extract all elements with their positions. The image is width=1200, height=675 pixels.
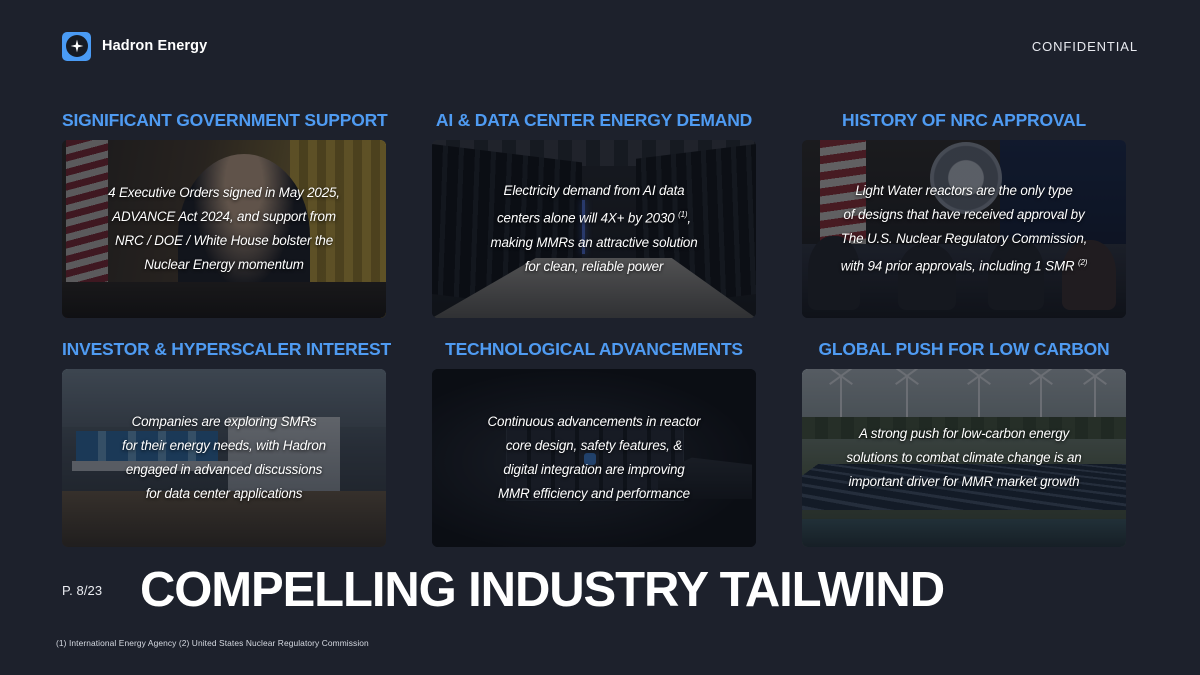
- card-line: MMR efficiency and performance: [498, 482, 690, 506]
- card-line: core design, safety features, &: [506, 434, 682, 458]
- card-line: The U.S. Nuclear Regulatory Commission,: [841, 227, 1087, 251]
- card-media: Companies are exploring SMRs for their e…: [62, 369, 386, 547]
- card-body-text: A strong push for low-carbon energy solu…: [802, 369, 1126, 547]
- card-line: with 94 prior approvals, including 1 SMR…: [841, 251, 1088, 278]
- card-media: 4 Executive Orders signed in May 2025, A…: [62, 140, 386, 318]
- footnote-marker: (1): [678, 210, 687, 219]
- card-media: Electricity demand from AI data centers …: [432, 140, 756, 318]
- card-line: making MMRs an attractive solution: [491, 231, 698, 255]
- card-line: Light Water reactors are the only type: [855, 179, 1072, 203]
- card-technological-advancements[interactable]: TECHNOLOGICAL ADVANCEMENTS Continuous ad…: [432, 339, 756, 547]
- card-title: GLOBAL PUSH FOR LOW CARBON: [802, 339, 1126, 360]
- card-body-text: Continuous advancements in reactor core …: [432, 369, 756, 547]
- card-media: Continuous advancements in reactor core …: [432, 369, 756, 547]
- card-history-of-nrc-approval[interactable]: HISTORY OF NRC APPROVAL Light Water reac…: [802, 110, 1126, 318]
- card-title: HISTORY OF NRC APPROVAL: [802, 110, 1126, 131]
- card-line: engaged in advanced discussions: [126, 458, 322, 482]
- card-title: INVESTOR & HYPERSCALER INTEREST: [62, 339, 386, 360]
- brand-name: Hadron Energy: [102, 38, 207, 54]
- card-line: for their energy needs, with Hadron: [122, 434, 326, 458]
- brand-lockup: Hadron Energy: [62, 32, 207, 61]
- card-media: Light Water reactors are the only type o…: [802, 140, 1126, 318]
- card-body-text: Companies are exploring SMRs for their e…: [62, 369, 386, 547]
- card-line: for clean, reliable power: [525, 255, 663, 279]
- card-line: NRC / DOE / White House bolster the: [115, 229, 333, 253]
- card-body-text: 4 Executive Orders signed in May 2025, A…: [62, 140, 386, 318]
- card-line: Continuous advancements in reactor: [488, 410, 701, 434]
- card-line: important driver for MMR market growth: [849, 470, 1080, 494]
- card-line-text: with 94 prior approvals, including 1 SMR: [841, 259, 1078, 274]
- card-title: TECHNOLOGICAL ADVANCEMENTS: [432, 339, 756, 360]
- footnote-marker: (2): [1078, 258, 1087, 267]
- card-line: centers alone will 4X+ by 2030 (1),: [497, 203, 691, 230]
- card-line: digital integration are improving: [503, 458, 684, 482]
- card-line-text: centers alone will 4X+ by 2030: [497, 211, 678, 226]
- card-investor-hyperscaler-interest[interactable]: INVESTOR & HYPERSCALER INTEREST Companie…: [62, 339, 386, 547]
- card-line: ADVANCE Act 2024, and support from: [112, 205, 336, 229]
- card-media: A strong push for low-carbon energy solu…: [802, 369, 1126, 547]
- card-line-suffix: ,: [687, 211, 691, 226]
- card-line: 4 Executive Orders signed in May 2025,: [108, 181, 340, 205]
- card-title: SIGNIFICANT GOVERNMENT SUPPORT: [62, 110, 386, 131]
- card-line: Companies are exploring SMRs: [132, 410, 317, 434]
- slide-header: Hadron Energy CONFIDENTIAL: [0, 0, 1200, 92]
- card-line: for data center applications: [146, 482, 303, 506]
- footnote-sources: (1) International Energy Agency (2) Unit…: [56, 638, 369, 648]
- card-ai-data-center-energy-demand[interactable]: AI & DATA CENTER ENERGY DEMAND Electrici…: [432, 110, 756, 318]
- card-line: of designs that have received approval b…: [844, 203, 1085, 227]
- page-number: P. 8/23: [62, 583, 140, 598]
- card-line: Electricity demand from AI data: [504, 179, 685, 203]
- insight-card-grid: SIGNIFICANT GOVERNMENT SUPPORT 4 Executi…: [62, 110, 1138, 547]
- card-title: AI & DATA CENTER ENERGY DEMAND: [432, 110, 756, 131]
- card-significant-government-support[interactable]: SIGNIFICANT GOVERNMENT SUPPORT 4 Executi…: [62, 110, 386, 318]
- card-global-push-for-low-carbon[interactable]: GLOBAL PUSH FOR LOW CARBON A strong push…: [802, 339, 1126, 547]
- card-line: solutions to combat climate change is an: [846, 446, 1081, 470]
- confidential-label: CONFIDENTIAL: [1032, 39, 1138, 54]
- card-line: A strong push for low-carbon energy: [859, 422, 1069, 446]
- four-point-star-icon: [62, 32, 91, 61]
- slide-title: COMPELLING INDUSTRY TAILWIND: [140, 566, 944, 615]
- card-line: Nuclear Energy momentum: [144, 253, 304, 277]
- card-body-text: Electricity demand from AI data centers …: [432, 140, 756, 318]
- slide-footer: P. 8/23 COMPELLING INDUSTRY TAILWIND: [62, 566, 1138, 615]
- card-body-text: Light Water reactors are the only type o…: [802, 140, 1126, 318]
